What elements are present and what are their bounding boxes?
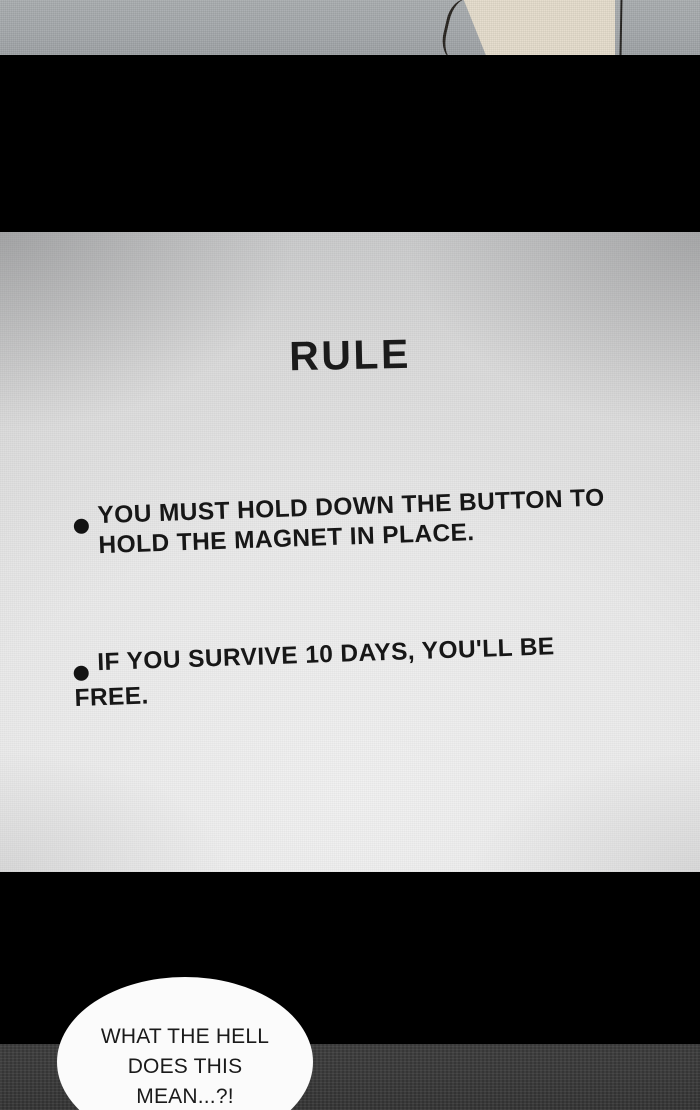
object-outline-left	[438, 0, 490, 55]
wall-seam-line	[619, 0, 622, 55]
rule-text-line-1: IF YOU SURVIVE 10 DAYS, YOU'LL BE FREE.	[74, 633, 555, 712]
panel-gutter-top	[0, 55, 700, 232]
comic-page: RULE YOU MUST HOLD DOWN THE BUTTON TO HO…	[0, 0, 700, 1110]
rule-line-wrapper: IF YOU SURVIVE 10 DAYS, YOU'LL BE FREE.	[73, 627, 635, 716]
bullet-circle-icon	[73, 666, 89, 682]
rules-list: YOU MUST HOLD DOWN THE BUTTON TO HOLD TH…	[74, 500, 634, 716]
list-item: YOU MUST HOLD DOWN THE BUTTON TO HOLD TH…	[74, 500, 634, 561]
speech-bubble-text: WHAT THE HELL DOES THIS MEAN...?!	[101, 1022, 269, 1110]
list-item: IF YOU SURVIVE 10 DAYS, YOU'LL BE FREE.	[74, 647, 634, 717]
panel-top-grey-wall	[0, 0, 700, 55]
bullet-circle-icon	[74, 519, 90, 535]
